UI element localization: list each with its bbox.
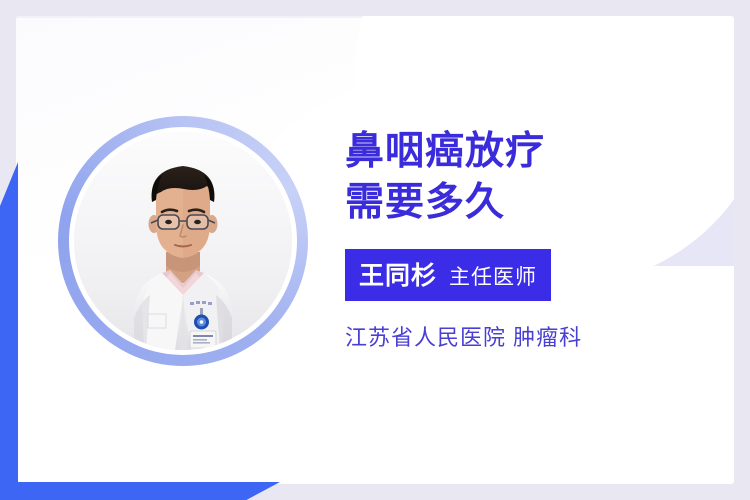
accent-bar-left (0, 162, 18, 500)
card-text-column: 鼻咽癌放疗 需要多久 王同杉 主任医师 江苏省人民医院 肿瘤科 (345, 126, 705, 352)
headline-line-1: 鼻咽癌放疗 (345, 130, 545, 173)
accent-bar-bottom (0, 482, 280, 500)
doctor-info-card: 鼻咽癌放疗 需要多久 王同杉 主任医师 江苏省人民医院 肿瘤科 (0, 0, 750, 500)
doctor-badge: 王同杉 主任医师 (345, 249, 551, 301)
doctor-portrait (58, 116, 308, 366)
doctor-name: 王同杉 (359, 256, 437, 292)
doctor-affiliation: 江苏省人民医院 肿瘤科 (345, 320, 705, 352)
doctor-title: 主任医师 (449, 261, 537, 291)
page-title: 鼻咽癌放疗 需要多久 (345, 126, 705, 229)
portrait-photo (74, 132, 292, 350)
headline-line-2: 需要多久 (345, 177, 705, 228)
